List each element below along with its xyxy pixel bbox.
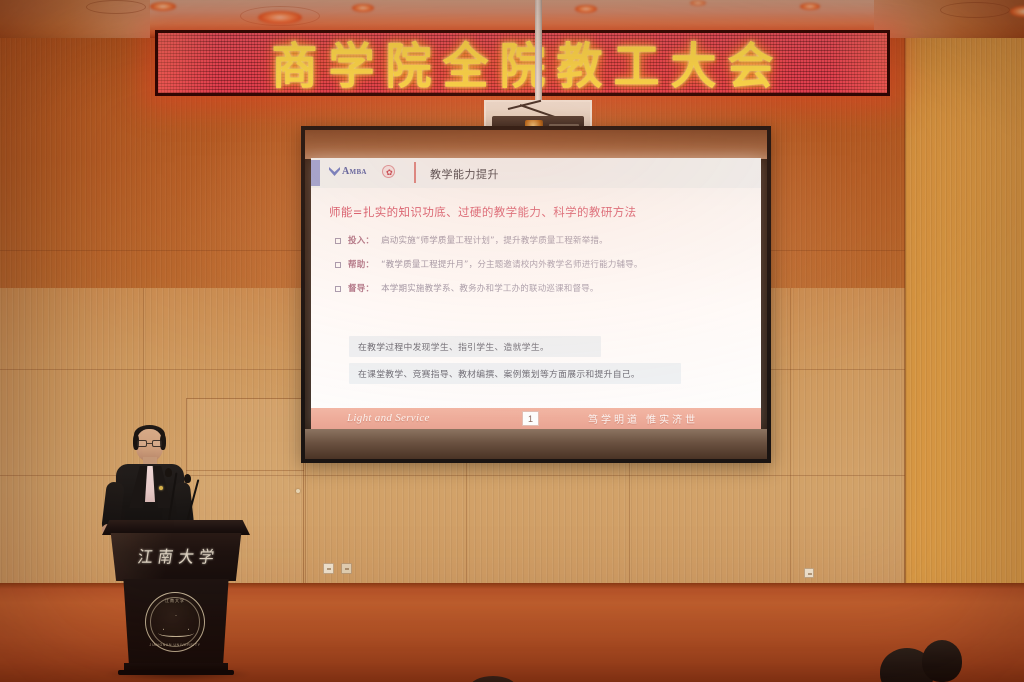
square-bullet-icon: [335, 238, 341, 244]
amba-logo-text: AMBA: [342, 166, 367, 177]
header-divider: [414, 162, 416, 183]
presentation-slide: AMBA ✿ 教学能力提升 师能=扎实的知识功底、过硬的教学能力、科学的教研方法…: [311, 158, 761, 430]
slide-highlight-box: 在教学过程中发现学生、指引学生、造就学生。: [349, 336, 601, 357]
outlet-slot: [327, 568, 331, 570]
slide-footer-tagline: Light and Service: [347, 412, 430, 424]
led-glow-right: [827, 33, 887, 93]
speaker-lapel-pin: [159, 486, 163, 490]
amba-logo: AMBA: [329, 166, 367, 177]
podium-foot: [118, 670, 234, 675]
slide-headline: 师能=扎实的知识功底、过硬的教学能力、科学的教研方法: [329, 204, 637, 220]
slide-footer-motto: 笃学明道 惟实济世: [588, 411, 698, 426]
audience-head: [922, 640, 962, 682]
ceiling-ring: [940, 2, 1010, 18]
microphone-head[interactable]: [165, 468, 172, 477]
glasses-lens-right: [152, 440, 162, 447]
calligraphy-char: 南: [157, 544, 176, 567]
emblem-text-top: 江南大学: [146, 598, 204, 604]
slide-footer-bar: Light and Service 1 笃学明道 惟实济世: [311, 408, 761, 430]
door-knob[interactable]: [296, 489, 300, 493]
ceiling-downlight: [575, 5, 597, 13]
list-item: 帮助： “教学质量工程提升月”，分主题邀请校内外教学名师进行能力辅导。: [335, 260, 739, 271]
bullet-lead: 督导：: [348, 284, 374, 295]
right-side-wall: [905, 38, 1024, 583]
slide-header-bar: AMBA ✿ 教学能力提升: [311, 158, 761, 188]
list-item: 投入： 启动实施“师学质量工程计划”，提升教学质量工程新举措。: [335, 236, 739, 247]
projector-mount-pole: [535, 0, 542, 104]
ceiling-downlight: [800, 3, 820, 10]
ceiling-downlight: [352, 4, 374, 12]
list-item: 督导： 本学期实施教学系、教务办和学工办的联动巡课和督导。: [335, 284, 739, 295]
podium-top-surface: [102, 520, 250, 535]
accreditation-seal-icon: ✿: [382, 165, 395, 178]
podium-university-calligraphy: 江 南 大 学: [124, 542, 228, 570]
ceiling-downlight: [690, 0, 706, 6]
led-panel: 商学院全院教工大会: [158, 33, 887, 93]
slide-highlight-box: 在课堂教学、竞赛指导、教材编撰、案例策划等方面展示和提升自己。: [349, 363, 681, 384]
screen-top-margin: [305, 130, 767, 159]
ceiling-downlight: [150, 2, 176, 11]
amba-shield-icon: [329, 167, 340, 176]
projection-screen-surface: AMBA ✿ 教学能力提升 师能=扎实的知识功底、过硬的教学能力、科学的教研方法…: [305, 130, 767, 459]
ceiling-downlight: [258, 11, 302, 24]
auditorium-scene: 商学院全院教工大会 AMBA ✿ 教学能力提升: [0, 0, 1024, 682]
glasses-lens-left: [137, 440, 147, 447]
speaker-and-podium: 江 南 大 学 江南大学 JIANGNAN UNIVERSITY: [96, 420, 256, 660]
slide-header-title: 教学能力提升: [430, 166, 499, 182]
square-bullet-icon: [335, 286, 341, 292]
outlet-slot: [345, 568, 349, 570]
projection-screen-frame: AMBA ✿ 教学能力提升 师能=扎实的知识功底、过硬的教学能力、科学的教研方法…: [301, 126, 771, 463]
seal-glyph: ✿: [386, 168, 393, 177]
bullet-lead: 帮助：: [348, 260, 374, 271]
emblem-wave-icon: [158, 629, 194, 637]
emblem-text-bottom: JIANGNAN UNIVERSITY: [146, 643, 204, 647]
speaker-glasses: [137, 440, 162, 447]
slide-bullet-list: 投入： 启动实施“师学质量工程计划”，提升教学质量工程新举措。 帮助： “教学质…: [335, 236, 739, 308]
university-emblem: 江南大学 JIANGNAN UNIVERSITY: [145, 592, 205, 652]
bullet-text: “教学质量工程提升月”，分主题邀请校内外教学名师进行能力辅导。: [381, 260, 643, 271]
bullet-text: 启动实施“师学质量工程计划”，提升教学质量工程新举措。: [381, 236, 608, 247]
led-banner-text: 商学院全院教工大会: [261, 33, 785, 93]
ceiling-ring: [86, 0, 146, 14]
bullet-text: 本学期实施教学系、教务办和学工办的联动巡课和督导。: [381, 284, 599, 295]
screen-bottom-margin: [305, 429, 767, 459]
calligraphy-char: 大: [177, 544, 196, 567]
square-bullet-icon: [335, 262, 341, 268]
led-glow-left: [158, 33, 218, 93]
calligraphy-char: 江: [137, 544, 156, 567]
wall-outlet[interactable]: [323, 563, 334, 574]
right-wall-grain: [905, 38, 1024, 583]
bullet-lead: 投入：: [348, 236, 374, 247]
microphone-head[interactable]: [184, 474, 191, 483]
wall-outlet[interactable]: [804, 568, 814, 578]
slide-accent-bar: [311, 160, 320, 186]
led-banner: 商学院全院教工大会: [155, 30, 890, 96]
wall-outlet[interactable]: [341, 563, 352, 574]
calligraphy-char: 学: [197, 544, 216, 567]
wall-seam-vertical: [790, 288, 791, 621]
slide-page-number: 1: [522, 411, 539, 426]
wall-corner-line: [904, 38, 906, 583]
outlet-slot: [808, 573, 812, 575]
